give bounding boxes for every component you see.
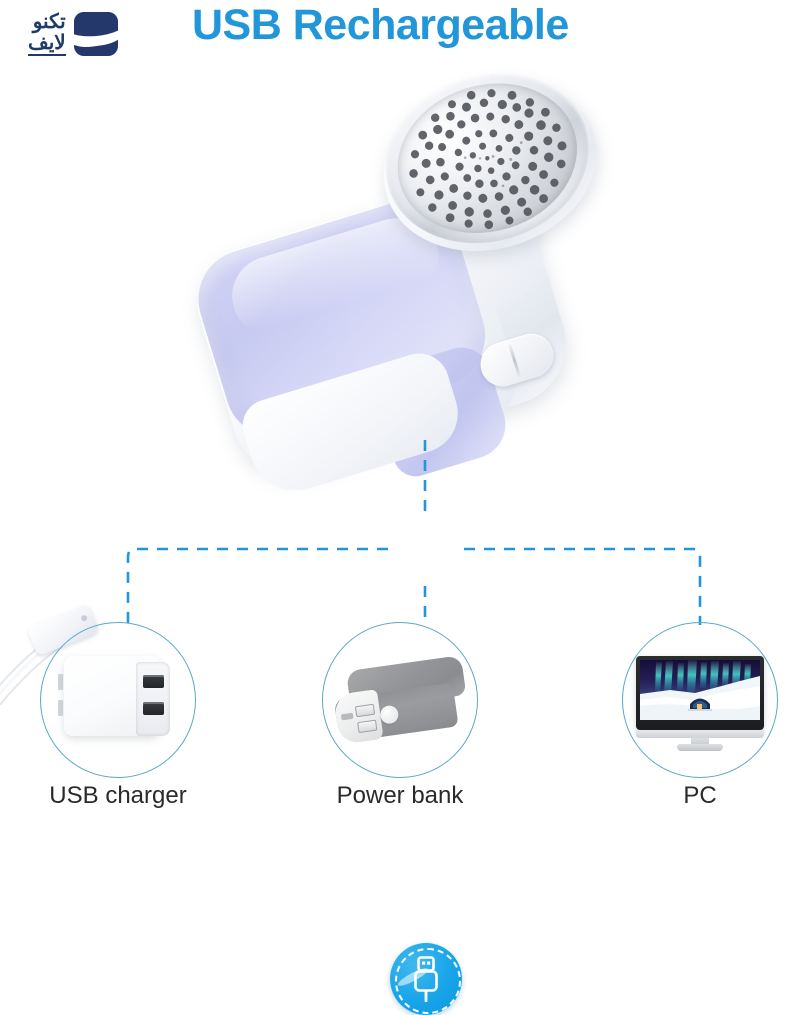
power-bank-port-cap: [333, 689, 384, 745]
usb-hub-badge: [390, 943, 462, 1015]
item-label-pc: PC: [600, 782, 800, 810]
diagram-item-usb-charger: USB charger: [18, 622, 218, 852]
pc-screen-wallpaper: [640, 660, 760, 720]
charger-usb-port: [143, 702, 164, 715]
brand-logo-line2: لايف: [28, 33, 66, 56]
charger-usb-port: [143, 675, 164, 688]
page-title: USB Rechargeable: [192, 1, 569, 50]
pc-stand-base: [677, 744, 723, 751]
pc-chin: [636, 730, 764, 738]
diagram-item-power-bank: Power bank: [300, 622, 500, 852]
brand-logo-text: تكنو لايف: [28, 12, 66, 56]
header: تكنو لايف USB Rechargeable: [0, 0, 800, 62]
pc-monitor: [636, 656, 764, 748]
techno-life-logo-mark-icon: [74, 12, 118, 56]
desktop-computer-icon: [622, 622, 778, 778]
diagram-item-pc: PC: [600, 622, 800, 852]
product-infographic: تكنو لايف USB Rechargeable: [0, 0, 800, 800]
brand-logo: تكنو لايف: [28, 8, 188, 60]
charger-prong: [58, 674, 63, 690]
usb-plug-icon: [410, 956, 442, 1002]
power-bank-usb-port: [357, 720, 377, 734]
power-bank-micro-usb-port: [341, 713, 354, 721]
brand-logo-line1: تكنو: [33, 12, 66, 32]
power-bank-body: [330, 655, 470, 739]
logo-swoosh-shape: [74, 20, 118, 50]
wall-charger-icon: [40, 622, 196, 778]
item-label-power-bank: Power bank: [300, 782, 500, 810]
power-bank-usb-port: [355, 704, 375, 718]
power-bank-icon: [322, 622, 478, 778]
item-label-usb-charger: USB charger: [18, 782, 218, 810]
charger-port-face: [136, 662, 170, 736]
charger-prong: [58, 700, 63, 716]
